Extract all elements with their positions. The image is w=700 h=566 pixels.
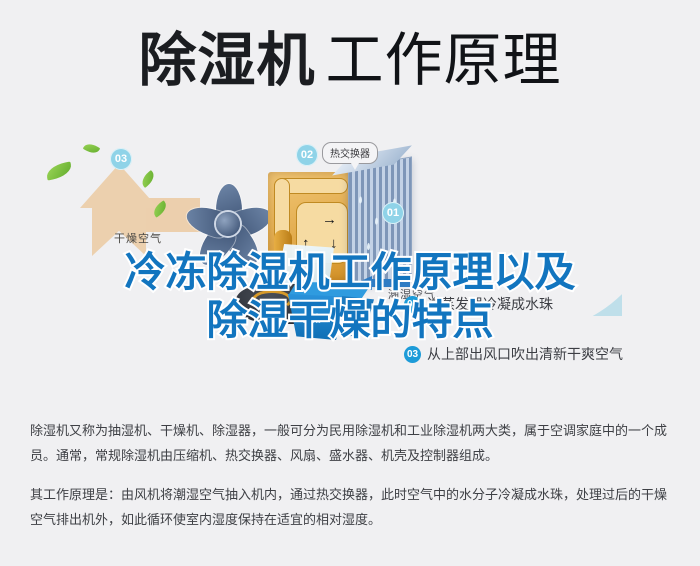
- fan-icon: [180, 176, 276, 272]
- leaf-icon: [83, 141, 100, 156]
- diagram-illustration: 干燥空气 → ↑ ↓: [0, 118, 700, 410]
- note-badge-02: 02: [404, 296, 421, 313]
- body-paragraph-2: 其工作原理是：由风机将潮湿空气抽入机内，通过热交换器，此时空气中的水分子冷凝成水…: [30, 482, 674, 532]
- step-badge-03-top: 03: [110, 148, 132, 170]
- note-text-03: 从上部出风口吹出清新干爽空气: [427, 344, 623, 364]
- infographic-page: 除湿机工作原理 干燥空气 →: [0, 0, 700, 566]
- note-badge-03: 03: [404, 346, 421, 363]
- note-item-03: 03 从上部出风口吹出清新干爽空气: [404, 344, 623, 364]
- body-copy: 除湿机又称为抽湿机、干燥机、除湿器，一般可分为民用除湿机和工业除湿机两大类，属于…: [30, 418, 674, 546]
- machine-base-icon: [236, 276, 386, 334]
- page-title: 除湿机工作原理: [0, 26, 700, 96]
- callout-pointer-icon: [348, 158, 362, 174]
- note-text-02: 过蒸发器冷凝成水珠: [427, 294, 553, 314]
- step-badge-01: 01: [382, 202, 404, 224]
- page-title-part2: 工作原理: [326, 28, 562, 93]
- page-title-part1: 除湿机: [138, 28, 315, 93]
- step-badge-02: 02: [296, 144, 318, 166]
- note-item-02: 02 过蒸发器冷凝成水珠: [404, 294, 553, 314]
- heat-exchanger-coil-icon: [348, 156, 412, 287]
- water-tank-label: 水箱: [300, 310, 322, 325]
- body-paragraph-1: 除湿机又称为抽湿机、干燥机、除湿器，一般可分为民用除湿机和工业除湿机两大类，属于…: [30, 418, 674, 468]
- dry-air-label: 干燥空气: [114, 230, 162, 246]
